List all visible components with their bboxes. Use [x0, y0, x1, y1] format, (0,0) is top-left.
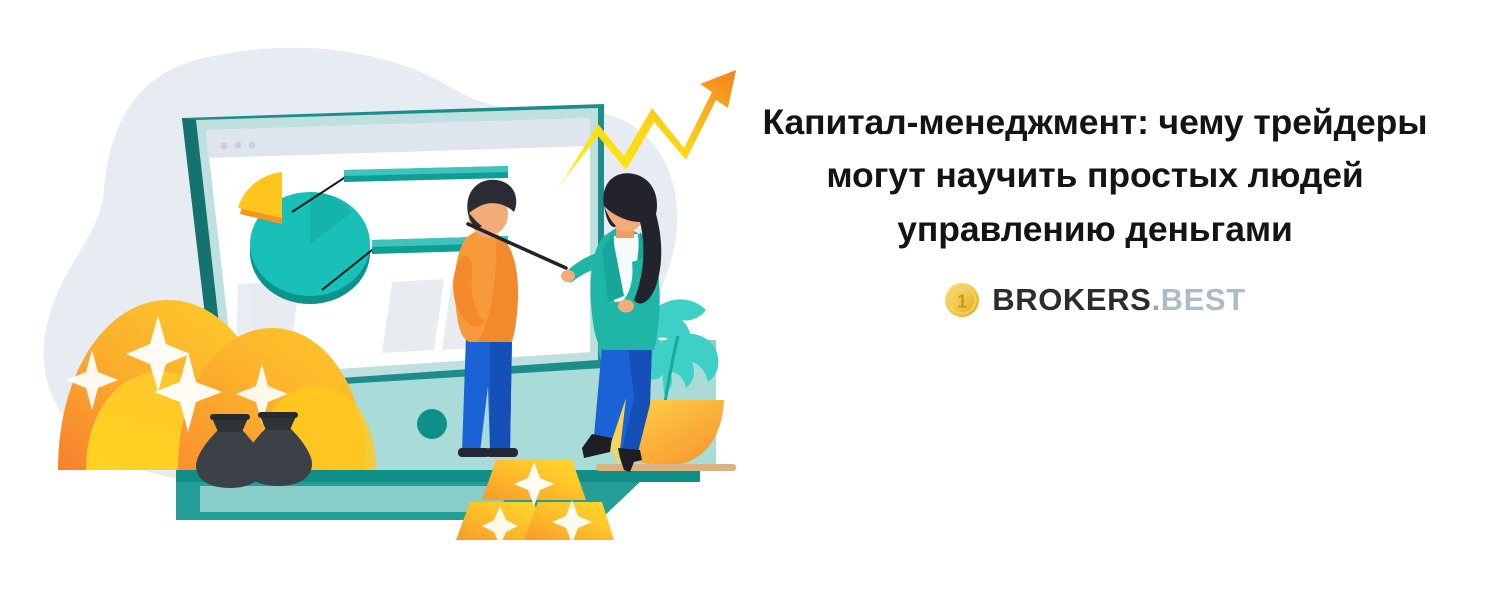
- power-button-dot: [417, 409, 447, 439]
- coin-numeral: 1: [957, 291, 967, 311]
- logo-brand-secondary: BEST: [1161, 282, 1246, 317]
- text-column: Капитал-менеджмент: чему трейдеры могут …: [700, 96, 1490, 318]
- promo-banner: Капитал-менеджмент: чему трейдеры могут …: [0, 0, 1500, 600]
- illustration: [0, 0, 760, 600]
- logo-brand-primary: BROKERS: [992, 282, 1151, 317]
- page-title: Капитал-менеджмент: чему трейдеры могут …: [700, 96, 1490, 256]
- logo-wordmark: BROKERS.BEST: [992, 284, 1246, 315]
- brand-logo[interactable]: 1 BROKERS.BEST: [700, 282, 1490, 318]
- coin-icon: 1: [944, 282, 980, 318]
- logo-brand-separator: .: [1151, 282, 1160, 317]
